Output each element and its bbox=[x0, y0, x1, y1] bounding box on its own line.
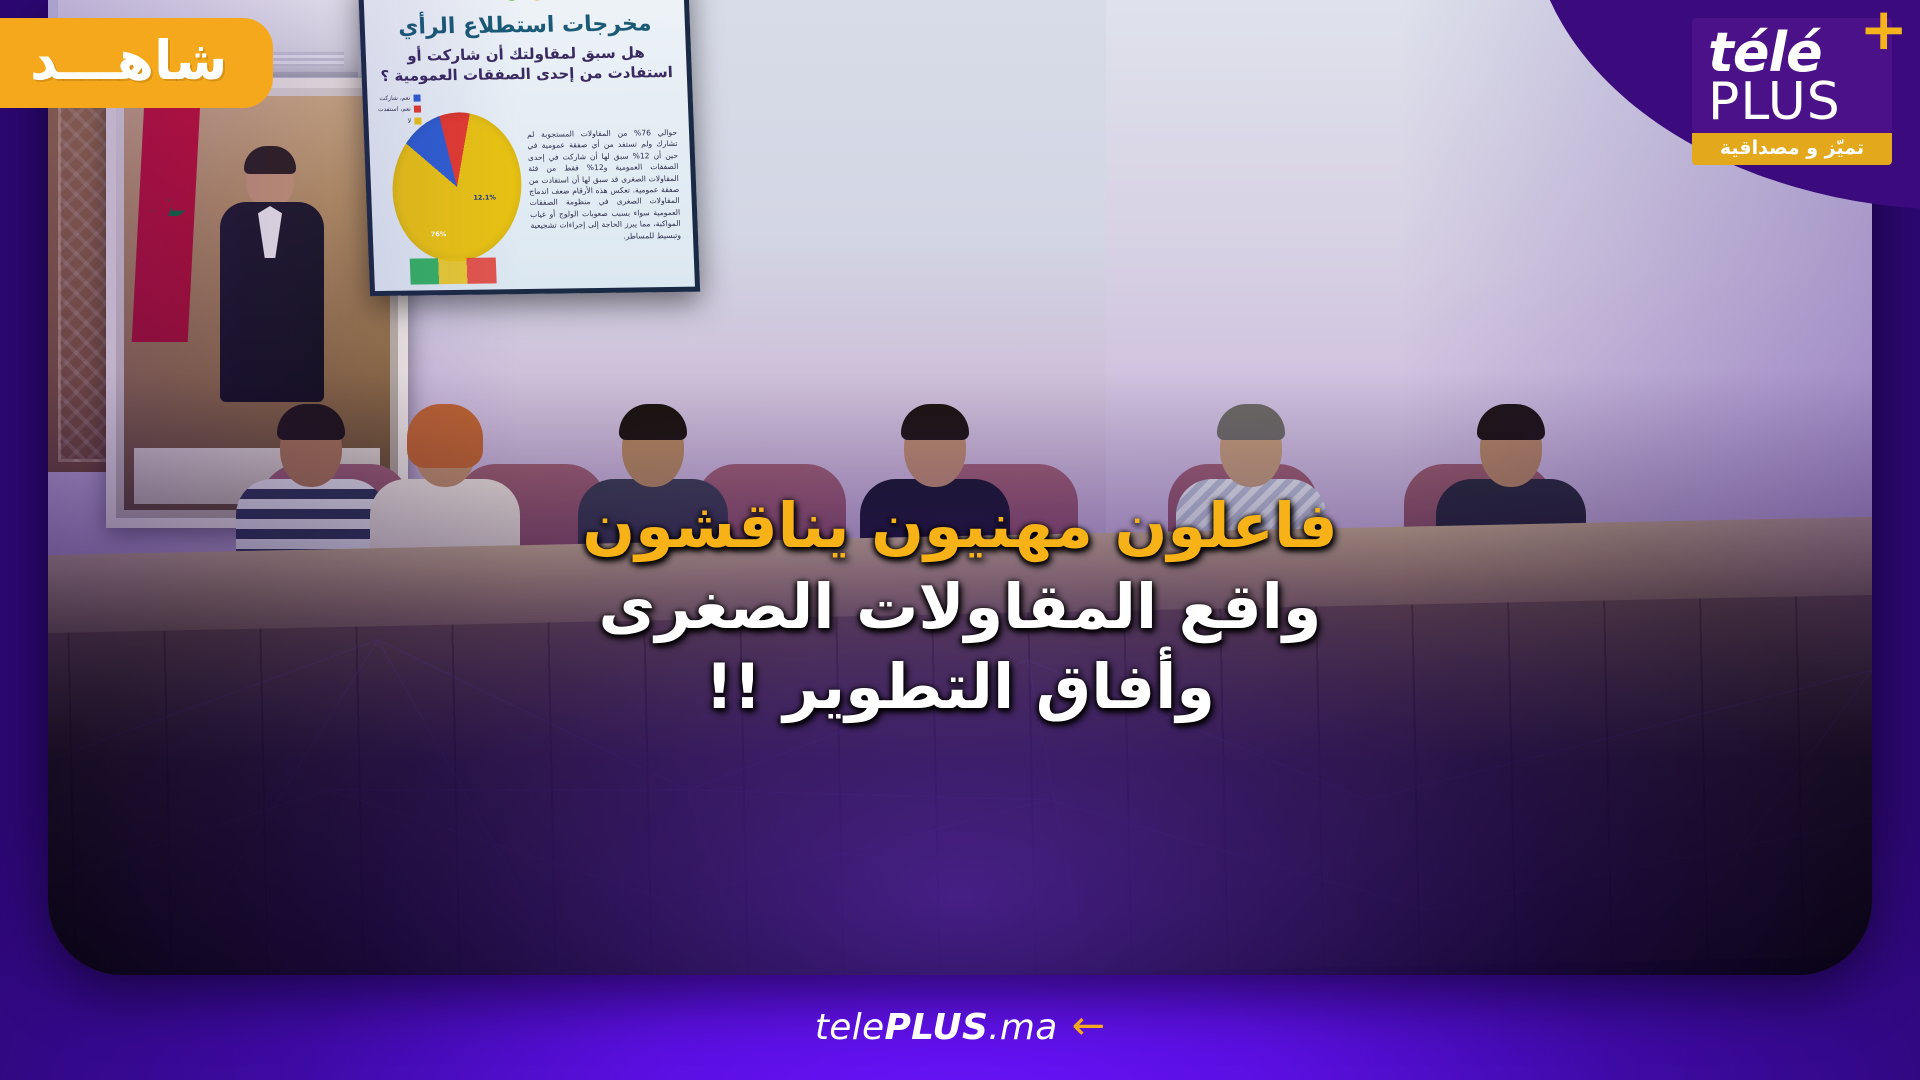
thumbnail-stage: مخرجات استطلاع الرأي هل سبق لمقاولتك أن … bbox=[0, 0, 1920, 1080]
url-prefix: tele bbox=[815, 1007, 885, 1048]
watch-badge[interactable]: شاهـــد bbox=[0, 18, 273, 108]
headline-line-1: فاعلون مهنيون يناقشون bbox=[48, 486, 1872, 567]
plus-sign-icon: + bbox=[1859, 0, 1908, 58]
teleplus-logo[interactable]: + télé PLUS تميّز و مصداقية bbox=[1450, 0, 1920, 180]
left-arrow-icon: ← bbox=[1072, 1006, 1106, 1046]
logo-tele-text: télé bbox=[1708, 28, 1876, 78]
logo-tagline: تميّز و مصداقية bbox=[1692, 133, 1892, 165]
headline-line-2: واقع المقاولات الصغرى bbox=[48, 567, 1872, 648]
website-url[interactable]: telePLUS.ma bbox=[815, 1007, 1058, 1048]
url-suffix: .ma bbox=[988, 1007, 1057, 1048]
footer-bar: telePLUS.ma ← bbox=[0, 975, 1920, 1080]
logo-card: + télé PLUS bbox=[1692, 18, 1892, 133]
headline-line-3: وأفاق التطوير !! bbox=[48, 647, 1872, 728]
headline: فاعلون مهنيون يناقشون واقع المقاولات الص… bbox=[48, 486, 1872, 728]
url-bold: PLUS bbox=[884, 1007, 988, 1048]
logo-box: + télé PLUS تميّز و مصداقية bbox=[1692, 18, 1892, 165]
logo-plus-text: PLUS bbox=[1708, 78, 1876, 127]
